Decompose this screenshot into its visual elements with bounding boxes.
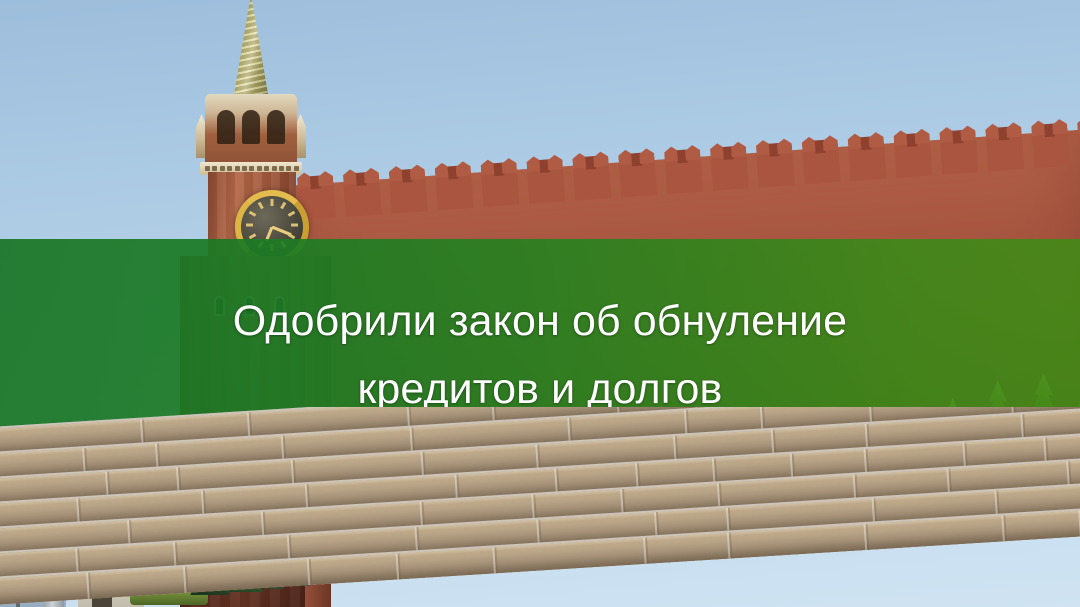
wall-merlon [894, 141, 932, 177]
wall-merlon [940, 138, 978, 174]
step-block [86, 567, 188, 599]
step-block [0, 573, 92, 605]
belfry-arch [217, 110, 235, 144]
clock-tick [246, 224, 253, 227]
step-block [864, 515, 1007, 550]
banner-headline-line-2: кредитов и долгов [357, 367, 722, 412]
wall-merlon [619, 161, 657, 197]
wall-merlon [481, 171, 519, 207]
belfry-arch [267, 110, 285, 144]
wall-merlon [711, 154, 749, 190]
clock-tick [271, 199, 274, 206]
wall-merlon [1032, 132, 1070, 168]
clock-tick [291, 224, 298, 227]
wall-merlon [802, 148, 840, 184]
wall-merlon [756, 151, 794, 187]
step-block [183, 559, 312, 593]
clock-tick [249, 211, 257, 217]
wall-merlon [435, 174, 473, 210]
granite-steps [0, 407, 1080, 607]
step-block [643, 532, 733, 563]
step-block [727, 524, 870, 559]
clock-tick [258, 202, 264, 210]
wall-merlon [986, 135, 1024, 171]
wall-merlon [527, 167, 565, 203]
step-block [492, 538, 648, 574]
step-block [306, 553, 401, 585]
belfry-arch [242, 110, 260, 144]
clock-tick [280, 202, 286, 210]
wall-merlon [573, 164, 611, 200]
step-block [1001, 510, 1080, 541]
step-block [396, 547, 498, 579]
tower-spire-ribs [232, 0, 270, 106]
clock-tick [288, 211, 296, 217]
banner-image: Одобрили закон об обнуление кредитов и д… [0, 0, 1080, 607]
tower-belfry [205, 94, 297, 168]
wall-merlon [389, 177, 427, 213]
banner-headline-line-1: Одобрили закон об обнуление [233, 299, 847, 344]
wall-merlon [848, 145, 886, 181]
wall-merlon [665, 158, 703, 194]
